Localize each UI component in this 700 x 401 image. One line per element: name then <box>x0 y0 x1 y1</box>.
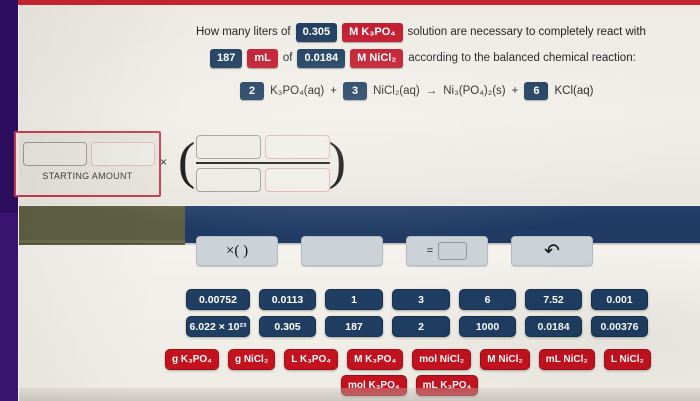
undo-button[interactable]: ↶ <box>511 236 593 266</box>
number-tile[interactable]: 0.305 <box>259 316 316 337</box>
equation-plus-1: + <box>330 85 337 97</box>
starting-amount-slots <box>23 142 155 166</box>
question-line1-post: solution are necessary to completely rea… <box>408 19 646 45</box>
equation-coefficient-3: 6 <box>524 82 548 100</box>
undo-icon: ↶ <box>544 242 560 261</box>
number-tile[interactable]: 7.52 <box>525 289 582 310</box>
conversion-factor-fraction: ( ) <box>178 130 346 196</box>
answer-box-slot[interactable] <box>438 242 467 260</box>
unit-tile[interactable]: M NiCl₂ <box>480 349 530 370</box>
paren-open: ( <box>178 134 195 190</box>
left-edge-strip-lower <box>0 213 19 401</box>
unit-tile[interactable]: M K₃PO₄ <box>347 349 403 370</box>
equation-product-1: Ni₃(PO₄)₂(s) <box>443 85 505 97</box>
unit-tile[interactable]: L NiCl₂ <box>604 349 651 370</box>
fraction-numerator <box>196 135 330 159</box>
unit-tile[interactable]: L K₃PO₄ <box>284 349 338 370</box>
multiply-paren-icon: ×( ) <box>226 243 248 260</box>
question-molarity2-chip: 0.0184 <box>297 49 345 68</box>
question-line-2: 187 mL of 0.0184 M NiCl₂ according to th… <box>210 45 666 71</box>
unit-tile-row-1: g K₃PO₄ g NiCl₂ L K₃PO₄ M K₃PO₄ mol NiCl… <box>165 349 651 370</box>
equation-species-1: K₃PO₄(aq) <box>270 85 324 97</box>
unit-tile[interactable]: g NiCl₂ <box>228 349 275 370</box>
number-tile[interactable]: 0.00752 <box>186 289 250 310</box>
unit-tile[interactable]: mol NiCl₂ <box>412 349 471 370</box>
number-tile[interactable]: 6 <box>459 289 516 310</box>
fraction-inner <box>196 135 330 192</box>
number-tile[interactable]: 1 <box>325 289 383 310</box>
equation-plus-2: + <box>512 85 519 97</box>
numerator-value-slot[interactable] <box>196 135 261 159</box>
question-molarity-chip: 0.305 <box>296 23 338 42</box>
question-unit-chip-ml: mL <box>247 49 278 68</box>
number-tile-row-1: 0.00752 0.0113 1 3 6 7.52 0.001 <box>186 289 648 310</box>
equation-coefficient-2: 3 <box>343 82 367 100</box>
balanced-equation: 2 K₃PO₄(aq) + 3 NiCl₂(aq) → Ni₃(PO₄)₂(s)… <box>240 82 593 100</box>
multiply-symbol: × <box>160 155 167 169</box>
operation-toolbar: ×( ) = ↶ <box>196 236 593 266</box>
fraction-denominator <box>196 168 330 192</box>
equation-coefficient-1: 2 <box>240 82 264 100</box>
number-tile[interactable]: 0.0184 <box>525 316 582 337</box>
denominator-value-slot[interactable] <box>196 168 261 192</box>
top-accent-line <box>18 0 700 5</box>
unit-tile[interactable]: g K₃PO₄ <box>165 349 219 370</box>
number-tile[interactable]: 0.00376 <box>591 316 648 337</box>
question-line-1: How many liters of 0.305 M K₃PO₄ solutio… <box>196 19 666 45</box>
equation-product-2: KCl(aq) <box>554 85 593 97</box>
starting-amount-box[interactable]: STARTING AMOUNT <box>14 131 161 197</box>
unit-tile-grid: g K₃PO₄ g NiCl₂ L K₃PO₄ M K₃PO₄ mol NiCl… <box>165 349 651 401</box>
question-line1-pre: How many liters of <box>196 19 291 45</box>
numerator-unit-slot[interactable] <box>265 135 330 159</box>
fraction-bar <box>196 162 330 164</box>
starting-amount-unit-slot[interactable] <box>91 142 155 166</box>
equation-species-2: NiCl₂(aq) <box>373 85 420 97</box>
starting-amount-label: STARTING AMOUNT <box>16 171 159 181</box>
number-tile[interactable]: 6.022 × 10²³ <box>186 316 250 337</box>
equals-box-button[interactable]: = <box>406 236 488 266</box>
equation-arrow: → <box>426 85 438 97</box>
question-volume-chip: 187 <box>210 49 242 68</box>
question-unit-chip-kpo4: M K₃PO₄ <box>342 23 402 42</box>
blank-button[interactable] <box>301 236 383 266</box>
number-tile-grid: 0.00752 0.0113 1 3 6 7.52 0.001 6.022 × … <box>186 289 648 343</box>
unit-tile[interactable]: mL K₃PO₄ <box>416 375 479 396</box>
number-tile[interactable]: 2 <box>392 316 450 337</box>
unit-tile[interactable]: mL NiCl₂ <box>539 349 595 370</box>
number-tile-row-2: 6.022 × 10²³ 0.305 187 2 1000 0.0184 0.0… <box>186 316 648 337</box>
number-tile[interactable]: 0.0113 <box>259 289 316 310</box>
number-tile[interactable]: 187 <box>325 316 383 337</box>
starting-amount-value-slot[interactable] <box>23 142 87 166</box>
multiply-group-button[interactable]: ×( ) <box>196 236 278 266</box>
question-unit-chip-nicl2: M NiCl₂ <box>350 49 403 68</box>
number-tile[interactable]: 3 <box>392 289 450 310</box>
question-line2-post: according to the balanced chemical react… <box>408 45 636 71</box>
unit-tile[interactable]: mol K₃PO₄ <box>341 375 407 396</box>
number-tile[interactable]: 1000 <box>459 316 516 337</box>
unit-tile-row-2: mol K₃PO₄ mL K₃PO₄ <box>341 375 651 396</box>
question-text: How many liters of 0.305 M K₃PO₄ solutio… <box>196 19 666 71</box>
screenshot-root: How many liters of 0.305 M K₃PO₄ solutio… <box>0 0 700 401</box>
paren-close: ) <box>329 134 346 190</box>
question-line2-mid: of <box>283 45 293 71</box>
number-tile[interactable]: 0.001 <box>591 289 648 310</box>
denominator-unit-slot[interactable] <box>265 168 330 192</box>
equals-icon: = <box>427 245 433 257</box>
